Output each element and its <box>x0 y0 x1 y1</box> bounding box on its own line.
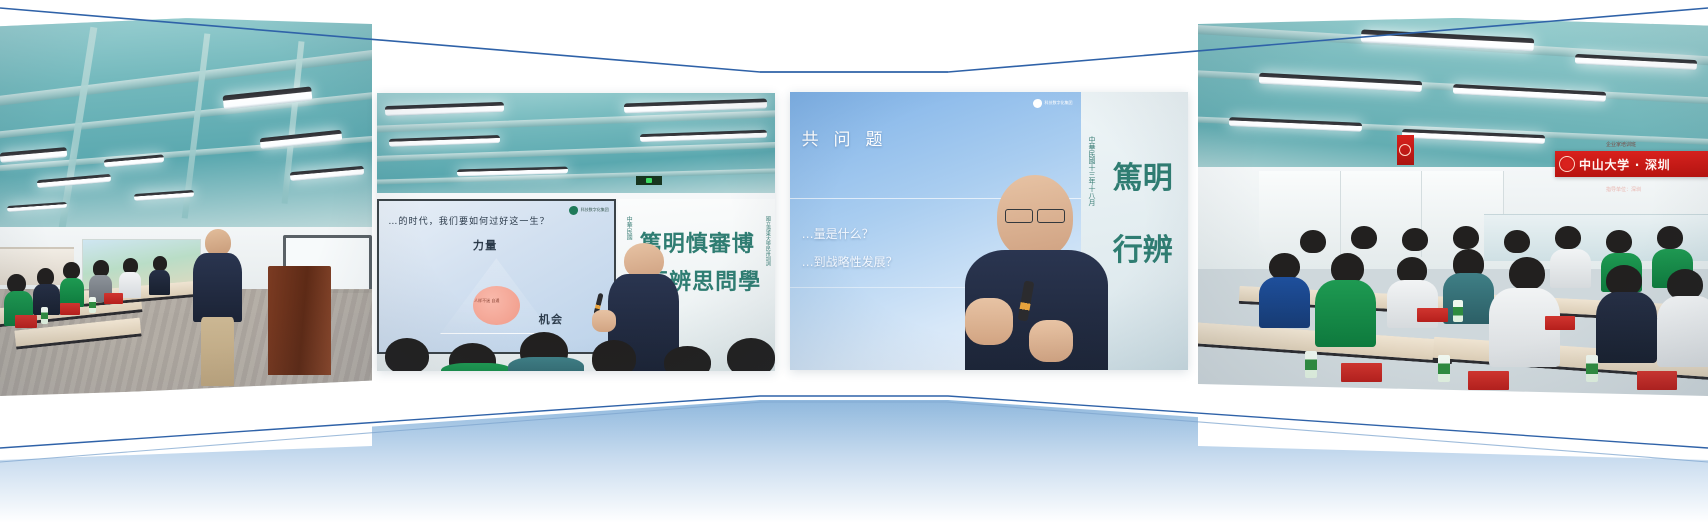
hanging-flag <box>1397 135 1414 165</box>
slide-headline: 共 问 题 <box>802 125 888 150</box>
slide-logo: 科技数字化集团 <box>1033 99 1073 108</box>
banner-subtext-right: 指导单位：深圳 <box>1606 186 1641 193</box>
slide-logo-text: 科技数字化集团 <box>1045 101 1073 105</box>
calligraphy-side-left: 中華民國 <box>624 216 633 240</box>
projection-slide: 科技数字化集团 …的时代，我们要如何过好这一生？ 力量 机会 人样不迷 自通 <box>377 199 616 355</box>
banner-subtext-left: 企业家培训班 <box>1606 141 1636 148</box>
wooden-podium <box>268 266 331 375</box>
nameplate <box>1545 316 1576 330</box>
exit-sign-icon <box>636 176 662 185</box>
university-seal-icon <box>1559 156 1575 172</box>
logo-mark-icon <box>569 206 578 215</box>
water-bottle <box>1586 355 1598 382</box>
speaker-hand <box>965 298 1013 345</box>
photo-banner-stage: 科技数字化集团 …的时代，我们要如何过好这一生？ 力量 机会 人样不迷 自通 中… <box>0 0 1708 523</box>
photo-audience: 中山大学 · 深圳 企业家培训班 指导单位：深圳 <box>1198 10 1708 402</box>
water-bottle <box>1305 351 1317 378</box>
calligraphy-line-1: 篤明 <box>1113 153 1173 197</box>
university-banner-text: 中山大学 · 深圳 <box>1579 156 1670 173</box>
slide-question-1: …量是什么？ <box>802 225 874 242</box>
nameplate <box>1341 363 1382 383</box>
photo-speaker-closeup: 科技数字化集团 共 问 题 …量是什么？ …到战略性发展？ 中華民國十三年十八月… <box>790 92 1188 370</box>
slide-center-text: 人样不迷 自通 <box>474 298 499 304</box>
photo-classroom-wide <box>0 10 372 398</box>
photo-lecture-slide: 科技数字化集团 …的时代，我们要如何过好这一生？ 力量 机会 人样不迷 自通 中… <box>377 93 775 371</box>
slide-logo: 科技数字化集团 <box>569 206 609 215</box>
slide-label-left: 力量 <box>473 237 498 253</box>
slide-question-2: …到战略性发展？ <box>802 253 898 270</box>
glasses-icon <box>1005 209 1033 223</box>
speaker-hand-right <box>1029 320 1073 362</box>
nameplate <box>1468 371 1509 391</box>
instructor-torso <box>193 253 241 323</box>
water-bottle <box>1438 355 1450 382</box>
logo-mark-icon <box>1033 99 1042 108</box>
calligraphy-side: 中華民國十三年十八月 <box>1087 136 1097 206</box>
center-circle <box>473 286 520 325</box>
university-banner: 中山大学 · 深圳 <box>1555 151 1708 177</box>
flag-seal-icon <box>1399 144 1411 156</box>
water-bottle <box>1453 300 1463 322</box>
slide-logo-text: 科技数字化集团 <box>581 208 609 212</box>
nameplate <box>1417 308 1448 322</box>
calligraphy-side-right: 國立海東大學民卅訓詞 <box>765 216 772 266</box>
glasses-icon-right <box>1037 209 1065 223</box>
slide-headline: …的时代，我们要如何过好这一生？ <box>388 214 549 227</box>
calligraphy-line-2: 行辨 <box>1113 225 1173 269</box>
nameplate <box>1637 371 1678 391</box>
